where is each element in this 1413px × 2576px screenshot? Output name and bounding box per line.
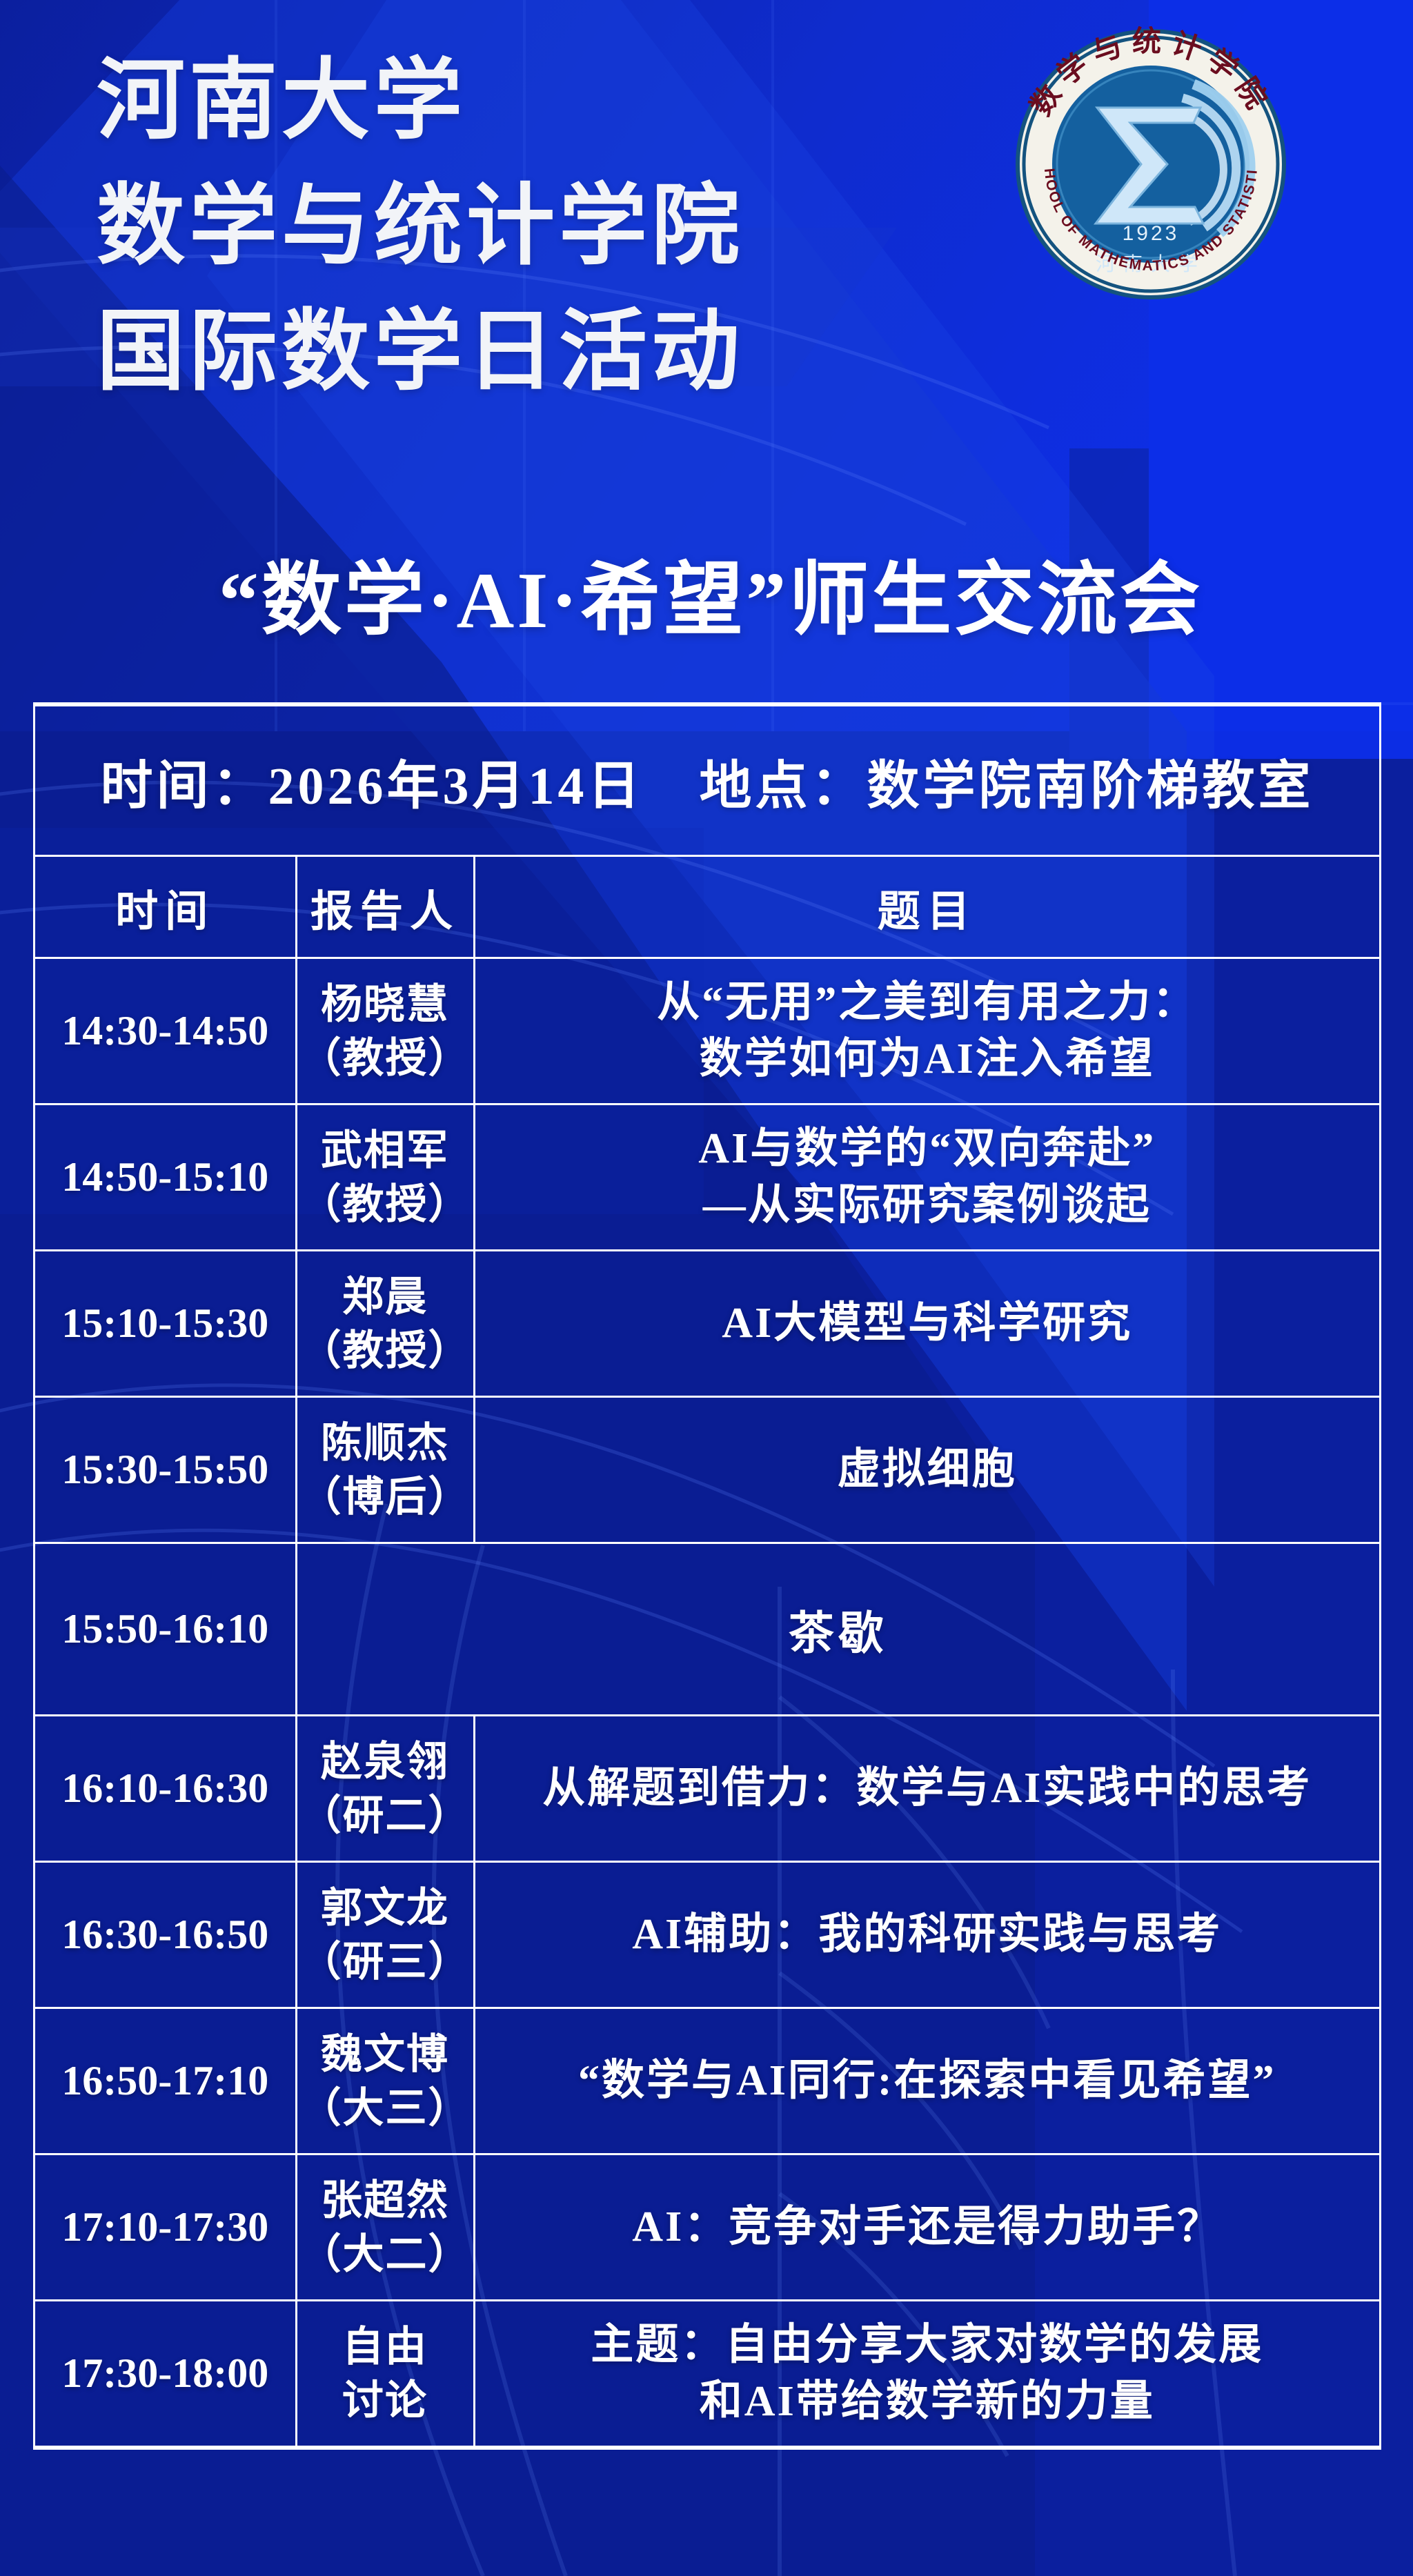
- event-subtitle: “数学·AI·希望”师生交流会: [41, 535, 1380, 651]
- cell-topic: 主题：自由分享大家对数学的发展和AI带给数学新的力量: [474, 2301, 1379, 2447]
- cell-time: 14:50-15:10: [35, 1104, 296, 1251]
- cell-topic: 虚拟细胞: [474, 1397, 1379, 1543]
- cell-speaker: 陈顺杰（博后）: [296, 1397, 474, 1543]
- table-row: 15:30-15:50 陈顺杰（博后） 虚拟细胞: [35, 1397, 1379, 1543]
- cell-speaker: 武相军（教授）: [296, 1104, 474, 1251]
- cell-time: 16:30-16:50: [35, 1862, 296, 2008]
- cell-time: 17:30-18:00: [35, 2301, 296, 2447]
- cell-time: 15:10-15:30: [35, 1251, 296, 1397]
- event-title: 国际数学日活动: [97, 289, 994, 415]
- cell-topic: AI：竞争对手还是得力助手？: [474, 2154, 1379, 2301]
- logo-year: 1923: [1123, 222, 1180, 245]
- table-header-row: 时间 报告人 题目: [35, 856, 1379, 958]
- school-title: 数学与统计学院: [97, 164, 994, 289]
- cell-speaker: 赵泉翎（研二）: [296, 1716, 474, 1862]
- cell-time: 17:10-17:30: [35, 2154, 296, 2301]
- table-row: 14:30-14:50 杨晓慧（教授） 从“无用”之美到有用之力：数学如何为AI…: [35, 958, 1379, 1104]
- school-logo: 1923 河南大学 数学与统计学院 SCHOOL OF MATHEMATICS …: [1013, 26, 1289, 302]
- cell-speaker: 张超然（大二）: [296, 2154, 474, 2301]
- cell-speaker: 郑晨（教授）: [296, 1251, 474, 1397]
- event-banner-cell: 时间：2026年3月14日 地点：数学院南阶梯教室: [35, 706, 1379, 856]
- banner-row: 时间：2026年3月14日 地点：数学院南阶梯教室: [35, 706, 1379, 856]
- cell-topic: AI与数学的“双向奔赴”—从实际研究案例谈起: [474, 1104, 1379, 1251]
- table-row: 17:30-18:00 自由讨论 主题：自由分享大家对数学的发展和AI带给数学新…: [35, 2301, 1379, 2447]
- schedule-table-wrapper: 时间：2026年3月14日 地点：数学院南阶梯教室 时间 报告人 题目: [33, 702, 1381, 2450]
- cell-speaker: 自由讨论: [296, 2301, 474, 2447]
- poster-root: 河南大学 数学与统计学院 国际数学日活动: [0, 0, 1413, 2576]
- poster-header: 河南大学 数学与统计学院 国际数学日活动: [0, 0, 1413, 690]
- cell-time: 15:30-15:50: [35, 1397, 296, 1543]
- table-row: 16:10-16:30 赵泉翎（研二） 从解题到借力：数学与AI实践中的思考: [35, 1716, 1379, 1862]
- table-row: 14:50-15:10 武相军（教授） AI与数学的“双向奔赴”—从实际研究案例…: [35, 1104, 1379, 1251]
- table-row: 15:50-16:10 茶歇: [35, 1543, 1379, 1716]
- organization-title: 河南大学: [97, 38, 994, 164]
- cell-time: 14:30-14:50: [35, 958, 296, 1104]
- table-row: 16:30-16:50 郭文龙（研三） AI辅助：我的科研实践与思考: [35, 1862, 1379, 2008]
- event-banner-text: 时间：2026年3月14日 地点：数学院南阶梯教室: [101, 757, 1314, 815]
- cell-topic: 从“无用”之美到有用之力：数学如何为AI注入希望: [474, 958, 1379, 1104]
- column-header-topic: 题目: [474, 856, 1379, 958]
- cell-time: 16:10-16:30: [35, 1716, 296, 1862]
- logo-seal: 1923 河南大学 数学与统计学院 SCHOOL OF MATHEMATICS …: [1013, 26, 1289, 302]
- cell-topic-merged: 茶歇: [296, 1543, 1379, 1716]
- cell-topic: AI辅助：我的科研实践与思考: [474, 1862, 1379, 2008]
- table-row: 16:50-17:10 魏文博（大三） “数学与AI同行:在探索中看见希望”: [35, 2008, 1379, 2154]
- cell-topic: 从解题到借力：数学与AI实践中的思考: [474, 1716, 1379, 1862]
- cell-topic: AI大模型与科学研究: [474, 1251, 1379, 1397]
- cell-speaker: 魏文博（大三）: [296, 2008, 474, 2154]
- cell-topic: “数学与AI同行:在探索中看见希望”: [474, 2008, 1379, 2154]
- table-row: 15:10-15:30 郑晨（教授） AI大模型与科学研究: [35, 1251, 1379, 1397]
- cell-time: 15:50-16:10: [35, 1543, 296, 1716]
- cell-speaker: 杨晓慧（教授）: [296, 958, 474, 1104]
- title-block: 河南大学 数学与统计学院 国际数学日活动: [97, 38, 994, 414]
- cell-time: 16:50-17:10: [35, 2008, 296, 2154]
- column-header-time: 时间: [35, 856, 296, 958]
- cell-speaker: 郭文龙（研三）: [296, 1862, 474, 2008]
- table-row: 17:10-17:30 张超然（大二） AI：竞争对手还是得力助手？: [35, 2154, 1379, 2301]
- column-header-speaker: 报告人: [296, 856, 474, 958]
- schedule-table: 时间：2026年3月14日 地点：数学院南阶梯教室 时间 报告人 题目: [35, 704, 1379, 2448]
